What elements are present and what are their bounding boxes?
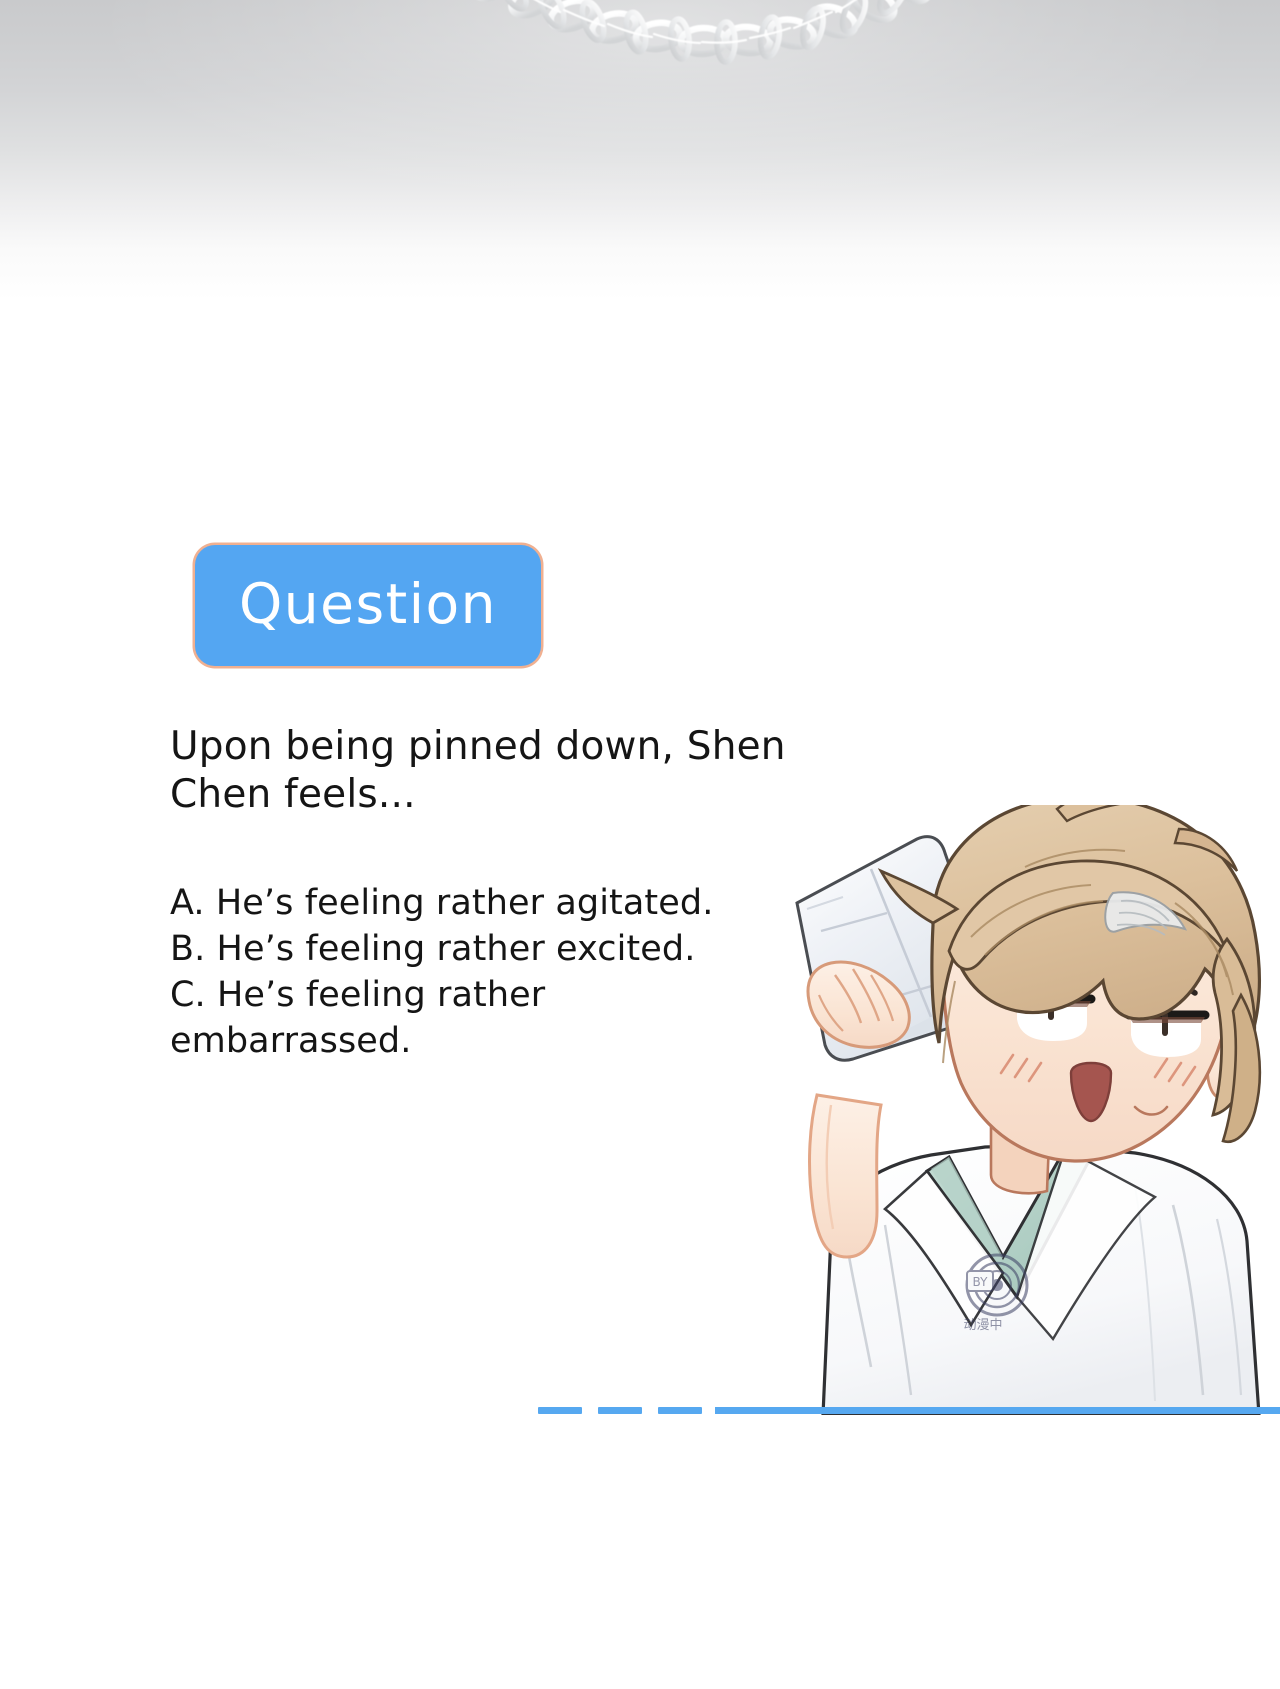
option-b[interactable]: B. He’s feeling rather excited. — [170, 926, 810, 972]
option-c-continued[interactable]: embarrassed. — [170, 1018, 810, 1064]
comic-panel: Question Upon being pinned down, Shen Ch… — [0, 0, 1280, 1689]
question-badge-label: Question — [239, 577, 497, 632]
chain-decoration — [470, 0, 940, 96]
watermark-text: BY — [973, 1275, 989, 1289]
divider-row — [0, 1404, 1280, 1418]
divider-solid-line — [715, 1407, 1280, 1414]
question-badge: Question — [195, 545, 541, 666]
chain-icon — [470, 0, 940, 96]
question-line-1: Upon being pinned down, Shen — [170, 723, 860, 771]
character-illustration: BY 动漫中 — [735, 805, 1280, 1415]
answer-options: A. He’s feeling rather agitated. B. He’s… — [170, 880, 810, 1064]
divider-dash-2 — [598, 1407, 642, 1414]
divider-dash-1 — [538, 1407, 582, 1414]
option-c[interactable]: C. He’s feeling rather — [170, 972, 810, 1018]
option-a[interactable]: A. He’s feeling rather agitated. — [170, 880, 810, 926]
svg-text:动漫中: 动漫中 — [963, 1318, 1002, 1333]
divider-dash-3 — [658, 1407, 702, 1414]
raised-arm — [810, 1095, 881, 1257]
shen-chen-figure: BY 动漫中 — [735, 805, 1280, 1415]
